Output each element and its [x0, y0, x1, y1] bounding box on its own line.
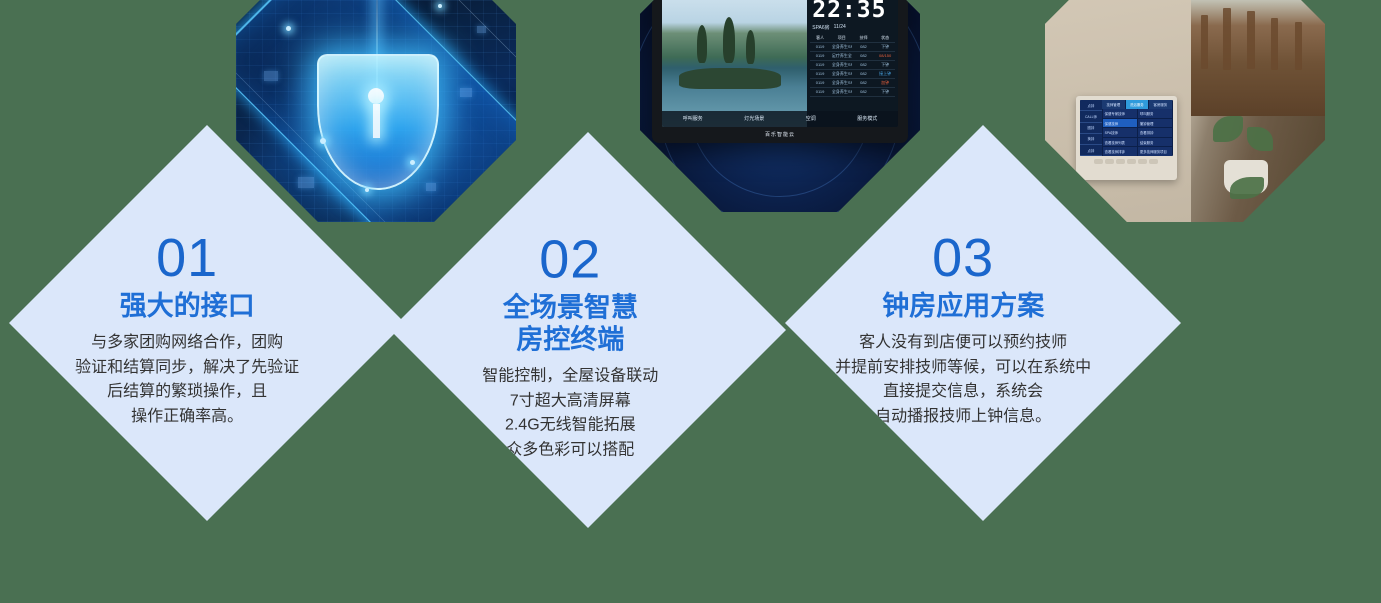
island-shape: [679, 68, 781, 89]
table-cell: 0119: [810, 89, 830, 95]
smart-room-tablet-image: 智能客房 22:35 SPA6房 11/24: [640, 0, 920, 212]
chip-block: [477, 26, 486, 33]
table-cell: 下钟: [875, 62, 895, 68]
table-cell: 08/150: [875, 53, 895, 59]
feature-title: 钟房应用方案: [882, 291, 1044, 323]
table-header-cell: 项目: [832, 35, 852, 41]
tablet-device: 智能客房 22:35 SPA6房 11/24: [652, 0, 908, 143]
wall-panel-option[interactable]: 结束服务: [1138, 138, 1172, 146]
side-menu-item[interactable]: CALL师: [1080, 111, 1102, 122]
wall-panel-grid: 保健专家技师 保健技师 SPA技师 查看技师列表 查看技师排钟 呼叫服务 撤钟管…: [1102, 109, 1173, 156]
chip-block: [298, 177, 314, 188]
table-cell: 082: [854, 44, 874, 50]
wall-panel-right-column: 呼叫服务 撤钟管理 查看排钟 结束服务 更多技师服务项目: [1137, 109, 1172, 156]
chip-block: [426, 183, 436, 191]
wall-panel-option[interactable]: 查看排钟: [1138, 128, 1172, 136]
table-cell: 082: [854, 53, 874, 59]
table-cell: 接上钟: [875, 71, 895, 77]
wall-panel-option-selected[interactable]: 保健技师: [1103, 119, 1137, 127]
wall-panel-side-menu: 点钟 CALL师 圈钟 换钟 点钟: [1080, 100, 1102, 156]
window-view: [1191, 0, 1325, 116]
feature-description: 客人没有到店便可以预约技师 并提前安排技师等候，可以在系统中 直接提交信息，系统…: [835, 331, 1091, 430]
table-header-cell: 技师: [854, 35, 874, 41]
wall-panel-hardware-buttons: [1080, 159, 1173, 164]
hardware-button[interactable]: [1138, 159, 1147, 164]
wall-panel-option[interactable]: 查看技师排钟: [1103, 147, 1137, 155]
table-cell: 全身养生SPA: [832, 80, 852, 86]
spark-dot: [438, 4, 442, 8]
tablet-bottom-bar: 呼叫服务 灯光场景 空调 服务模式: [662, 111, 898, 127]
table-row: 0119全身养生SPA082加钟: [810, 79, 895, 88]
hardware-button[interactable]: [1094, 159, 1103, 164]
hardware-button[interactable]: [1127, 159, 1136, 164]
wood-slat: [1247, 11, 1255, 69]
table-cell: 0119: [810, 62, 830, 68]
table-cell: 加钟: [875, 80, 895, 86]
table-body: 0119全身养生SPA082下钟0119足疗养生全身SPA08208/15001…: [810, 43, 895, 97]
infographic-canvas: 智能客房 22:35 SPA6房 11/24: [0, 0, 1381, 603]
keyhole-icon: [368, 88, 384, 104]
tree-shape: [746, 30, 755, 64]
wood-slat: [1295, 22, 1302, 70]
wall-panel-option[interactable]: 撤钟管理: [1138, 119, 1172, 127]
table-row: 0119全身养生SPA082下钟: [810, 43, 895, 52]
hardware-button[interactable]: [1105, 159, 1114, 164]
tree-shape: [723, 17, 735, 63]
table-cell: 全身养生SPA: [832, 89, 852, 95]
wood-slat: [1223, 8, 1231, 70]
table-cell: 0119: [810, 53, 830, 59]
wall-panel-tab[interactable]: 客房服务: [1149, 100, 1172, 109]
side-menu-item[interactable]: 圈钟: [1080, 122, 1102, 133]
feature-title: 强大的接口: [120, 291, 255, 323]
tablet-bottom-button[interactable]: 服务模式: [857, 115, 877, 122]
side-menu-item[interactable]: 点钟: [1080, 145, 1102, 156]
feature-number: 01: [156, 231, 218, 285]
tablet-screen: 22:35 SPA6房 11/24 客人 项目 技师 状态: [662, 0, 898, 127]
wall-control-panel[interactable]: 点钟 CALL师 圈钟 换钟 点钟 技师管理 洗浴服务 客房服务: [1076, 96, 1177, 180]
table-cell: 082: [854, 80, 874, 86]
hardware-button[interactable]: [1116, 159, 1125, 164]
table-cell: 0119: [810, 71, 830, 77]
table-row: 0119足疗养生全身SPA08208/150: [810, 52, 895, 61]
table-cell: 全身养生SPA: [832, 71, 852, 77]
table-cell: 全身养生SPA: [832, 62, 852, 68]
feature-description: 与多家团购网络合作，团购 验证和结算同步，解决了先验证 后结算的繁琐操作，且 操…: [75, 331, 299, 430]
table-cell: 0119: [810, 80, 830, 86]
tablet-bottom-button[interactable]: 呼叫服务: [683, 115, 703, 122]
clock-meta: SPA6房 11/24: [807, 22, 898, 34]
wood-slat: [1271, 18, 1278, 70]
table-row: 0119全身养生SPA082接上钟: [810, 70, 895, 79]
side-menu-item[interactable]: 换钟: [1080, 134, 1102, 145]
table-cell: 082: [854, 62, 874, 68]
wall-panel-option[interactable]: 呼叫服务: [1138, 109, 1172, 117]
tablet-bottom-button[interactable]: 灯光场景: [744, 115, 764, 122]
tree-shape: [697, 25, 707, 63]
tablet-info-column: 22:35 SPA6房 11/24 客人 项目 技师 状态: [807, 0, 898, 127]
tablet-brand: 百乐智能云: [652, 128, 908, 142]
table-cell: 082: [854, 89, 874, 95]
tablet-bottom-button[interactable]: 空调: [806, 115, 816, 122]
clock-display: 22:35: [807, 0, 898, 22]
key-stem-icon: [373, 104, 380, 138]
table-row: 0119全身养生SPA082下钟: [810, 61, 895, 70]
scenery-wallpaper: [662, 0, 807, 127]
wall-panel-option[interactable]: 查看技师列表: [1103, 138, 1137, 146]
chip-block: [460, 88, 472, 97]
table-cell: 足疗养生全身SPA: [832, 53, 852, 59]
feature-number: 02: [539, 233, 601, 287]
table-header-cell: 客人: [810, 35, 830, 41]
table-cell: 0119: [810, 44, 830, 50]
tech-shield-circuit-image: [236, 0, 516, 222]
wall-panel-option[interactable]: SPA技师: [1103, 128, 1137, 136]
table-cell: 全身养生SPA: [832, 44, 852, 50]
wood-slat: [1201, 15, 1208, 69]
wall-panel-tabs: 技师管理 洗浴服务 客房服务: [1102, 100, 1173, 109]
spark-dot: [320, 138, 326, 144]
hardware-button[interactable]: [1149, 159, 1158, 164]
table-row: 0119全身养生SPA082下钟: [810, 88, 895, 97]
table-header-cell: 状态: [875, 35, 895, 41]
plant-leaves: [1213, 116, 1243, 142]
table-header-row: 客人 项目 技师 状态: [810, 34, 895, 43]
feature-description: 智能控制，全屋设备联动 7寸超大高清屏幕 2.4G无线智能拓展 众多色彩可以搭配: [482, 364, 658, 463]
table-cell: 下钟: [875, 44, 895, 50]
date-label: 11/24: [834, 24, 846, 30]
wall-panel-main: 技师管理 洗浴服务 客房服务 保健专家技师 保健技师 SPA技师 查看技师列表: [1102, 100, 1173, 156]
chip-block: [264, 71, 278, 81]
feature-number: 03: [932, 231, 994, 285]
plant-leaves: [1247, 127, 1273, 151]
wall-panel-option[interactable]: 更多技师服务项目: [1138, 147, 1172, 155]
plant-leaves: [1230, 177, 1264, 199]
table-cell: 082: [854, 71, 874, 77]
wall-panel-screen: 点钟 CALL师 圈钟 换钟 点钟 技师管理 洗浴服务 客房服务: [1080, 100, 1173, 156]
room-label: SPA6房: [812, 24, 829, 31]
table-cell: 下钟: [875, 89, 895, 95]
wall-control-panel-room-image: 点钟 CALL师 圈钟 换钟 点钟 技师管理 洗浴服务 客房服务: [1045, 0, 1325, 222]
wall-panel-tab-selected[interactable]: 洗浴服务: [1126, 100, 1149, 109]
wall-panel-tab[interactable]: 技师管理: [1102, 100, 1125, 109]
wall-panel-left-column: 保健专家技师 保健技师 SPA技师 查看技师列表 查看技师排钟: [1102, 109, 1137, 156]
side-menu-item[interactable]: 点钟: [1080, 100, 1102, 111]
wall-panel-option[interactable]: 保健专家技师: [1103, 109, 1137, 117]
feature-title: 全场景智慧 房控终端: [503, 293, 638, 357]
